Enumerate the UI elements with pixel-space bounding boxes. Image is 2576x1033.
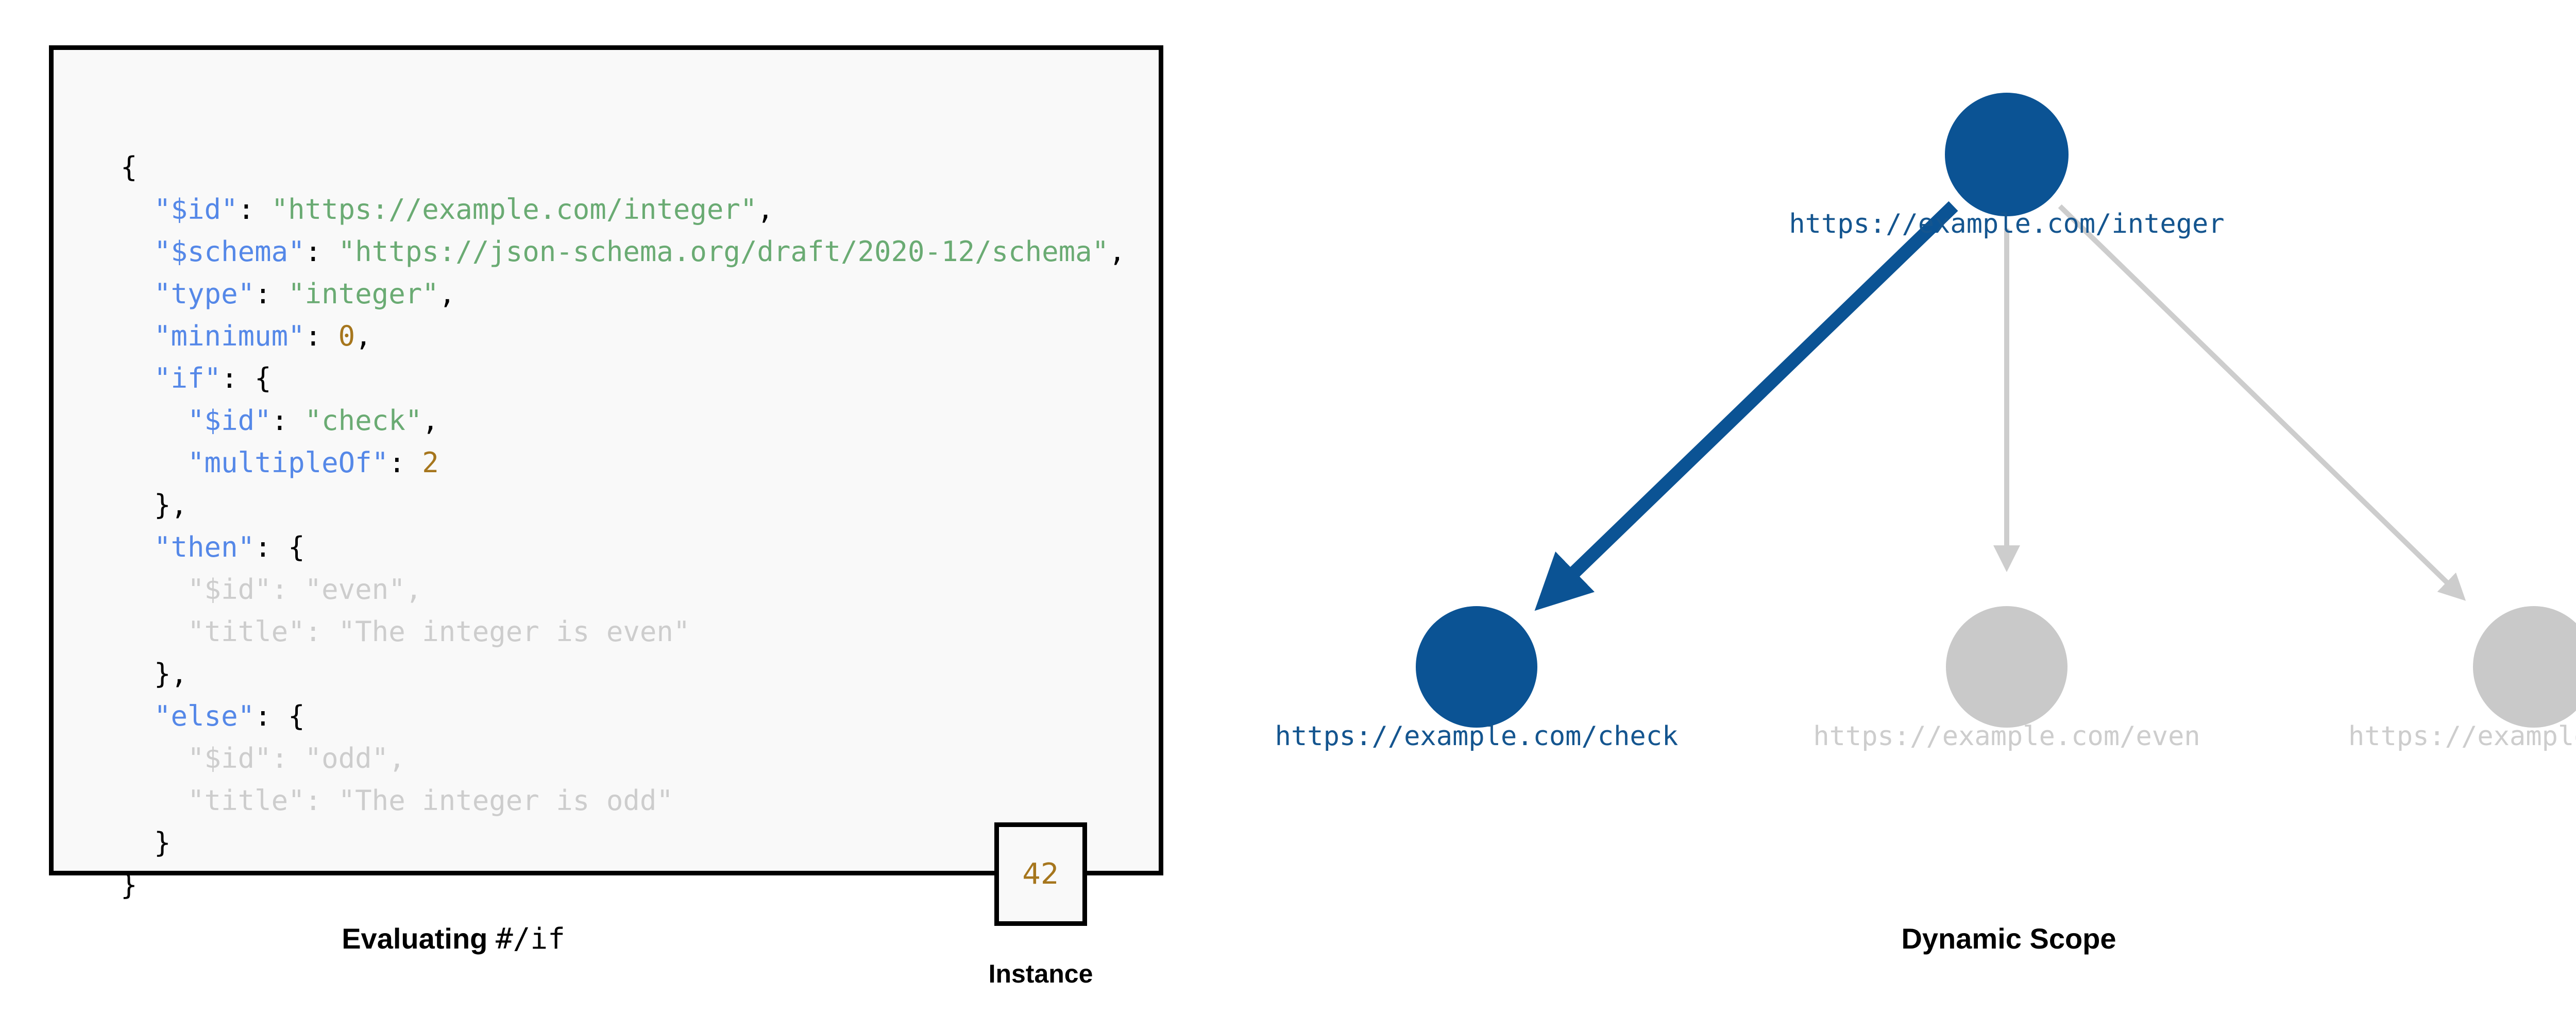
code-colon: : — [255, 278, 288, 310]
code-colon: : — [388, 446, 422, 479]
code-value: { — [288, 700, 305, 732]
code-comma: , — [405, 573, 422, 606]
edge-integer-to-check — [1553, 206, 1953, 593]
code-line: }, — [121, 484, 1126, 526]
code-colon: : — [305, 784, 338, 817]
code-line: "title": "The integer is odd" — [121, 780, 1126, 822]
code-line: "if": { — [121, 357, 1126, 400]
code-value: "The integer is odd" — [338, 784, 673, 817]
code-line: "else": { — [121, 695, 1126, 737]
node-layer — [1416, 93, 2576, 728]
code-colon: : — [272, 742, 305, 774]
code-line: "$id": "even", — [121, 569, 1126, 611]
code-punct: } — [121, 869, 138, 901]
instance-value: 42 — [1022, 860, 1059, 889]
code-line: "type": "integer", — [121, 273, 1126, 315]
code-key: "if" — [121, 362, 221, 394]
code-key: "title" — [121, 784, 305, 817]
code-line: "$schema": "https://json-schema.org/draf… — [121, 231, 1126, 273]
node-label-check: https://example.com/check — [1275, 721, 1679, 752]
code-value: 0 — [338, 320, 355, 352]
dynamic-scope-panel: https://example.com/integerhttps://examp… — [1185, 0, 2576, 1033]
evaluating-caption-pointer: #/if — [496, 922, 565, 956]
evaluating-caption: Evaluating #/if — [49, 922, 858, 956]
code-comma: , — [439, 278, 456, 310]
code-key: "$schema" — [121, 235, 305, 268]
code-value: { — [288, 531, 305, 563]
code-comma: , — [757, 193, 774, 226]
schema-panel: { "$id": "https://example.com/integer", … — [0, 0, 1185, 1033]
code-value: "integer" — [288, 278, 439, 310]
code-key: "title" — [121, 615, 305, 648]
node-check[interactable] — [1416, 606, 1537, 728]
code-line: { — [121, 146, 1126, 188]
code-line: "$id": "https://example.com/integer", — [121, 188, 1126, 231]
code-line: } — [121, 864, 1126, 906]
code-key: "multipleOf" — [121, 446, 388, 479]
code-value: 2 — [422, 446, 439, 479]
evaluating-caption-prefix: Evaluating — [342, 922, 496, 955]
code-colon: : — [272, 404, 305, 437]
code-comma: , — [1109, 235, 1126, 268]
code-key: "then" — [121, 531, 255, 563]
code-punct: }, — [121, 489, 188, 521]
node-odd[interactable] — [2473, 606, 2576, 728]
code-key: "else" — [121, 700, 255, 732]
schema-code-listing: { "$id": "https://example.com/integer", … — [121, 146, 1126, 906]
code-key: "minimum" — [121, 320, 305, 352]
node-label-even: https://example.com/even — [1813, 721, 2200, 752]
code-line: "minimum": 0, — [121, 315, 1126, 357]
code-colon: : — [238, 193, 272, 226]
dynamic-scope-graph — [1185, 0, 2576, 917]
code-colon: : — [305, 320, 338, 352]
code-colon: : — [255, 531, 288, 563]
edge-integer-to-odd — [2060, 206, 2458, 593]
node-integer[interactable] — [1945, 93, 2069, 216]
code-comma: , — [422, 404, 439, 437]
node-label-odd: https://example.com/odd — [2348, 721, 2576, 752]
code-line: } — [121, 822, 1126, 864]
code-colon: : — [305, 235, 338, 268]
code-line: "title": "The integer is even" — [121, 611, 1126, 653]
code-punct: }, — [121, 658, 188, 690]
code-colon: : — [221, 362, 255, 394]
code-key: "$id" — [121, 193, 238, 226]
code-line: "then": { — [121, 526, 1126, 569]
code-value: "even" — [305, 573, 405, 606]
code-value: { — [255, 362, 272, 394]
code-comma: , — [388, 742, 405, 774]
code-line: "$id": "check", — [121, 400, 1126, 442]
instance-box: 42 — [994, 822, 1087, 926]
code-value: "https://json-schema.org/draft/2020-12/s… — [338, 235, 1109, 268]
code-value: "https://example.com/integer" — [272, 193, 757, 226]
code-line: }, — [121, 653, 1126, 695]
code-line: "$id": "odd", — [121, 737, 1126, 780]
code-line: "multipleOf": 2 — [121, 442, 1126, 484]
code-value: "odd" — [305, 742, 389, 774]
code-colon: : — [255, 700, 288, 732]
code-punct: } — [121, 827, 171, 859]
code-punct: { — [121, 151, 138, 183]
node-even[interactable] — [1946, 606, 2067, 728]
code-key: "type" — [121, 278, 255, 310]
code-key: "$id" — [121, 742, 272, 774]
code-colon: : — [305, 615, 338, 648]
instance-caption: Instance — [969, 959, 1113, 989]
code-comma: , — [355, 320, 372, 352]
code-value: "check" — [305, 404, 422, 437]
edge-layer — [1553, 206, 2458, 593]
code-key: "$id" — [121, 573, 272, 606]
schema-code-box: { "$id": "https://example.com/integer", … — [49, 45, 1163, 875]
dynamic-scope-caption: Dynamic Scope — [1185, 922, 2576, 955]
code-value: "The integer is even" — [338, 615, 690, 648]
code-colon: : — [272, 573, 305, 606]
node-label-integer: https://example.com/integer — [1789, 209, 2224, 239]
code-key: "$id" — [121, 404, 272, 437]
